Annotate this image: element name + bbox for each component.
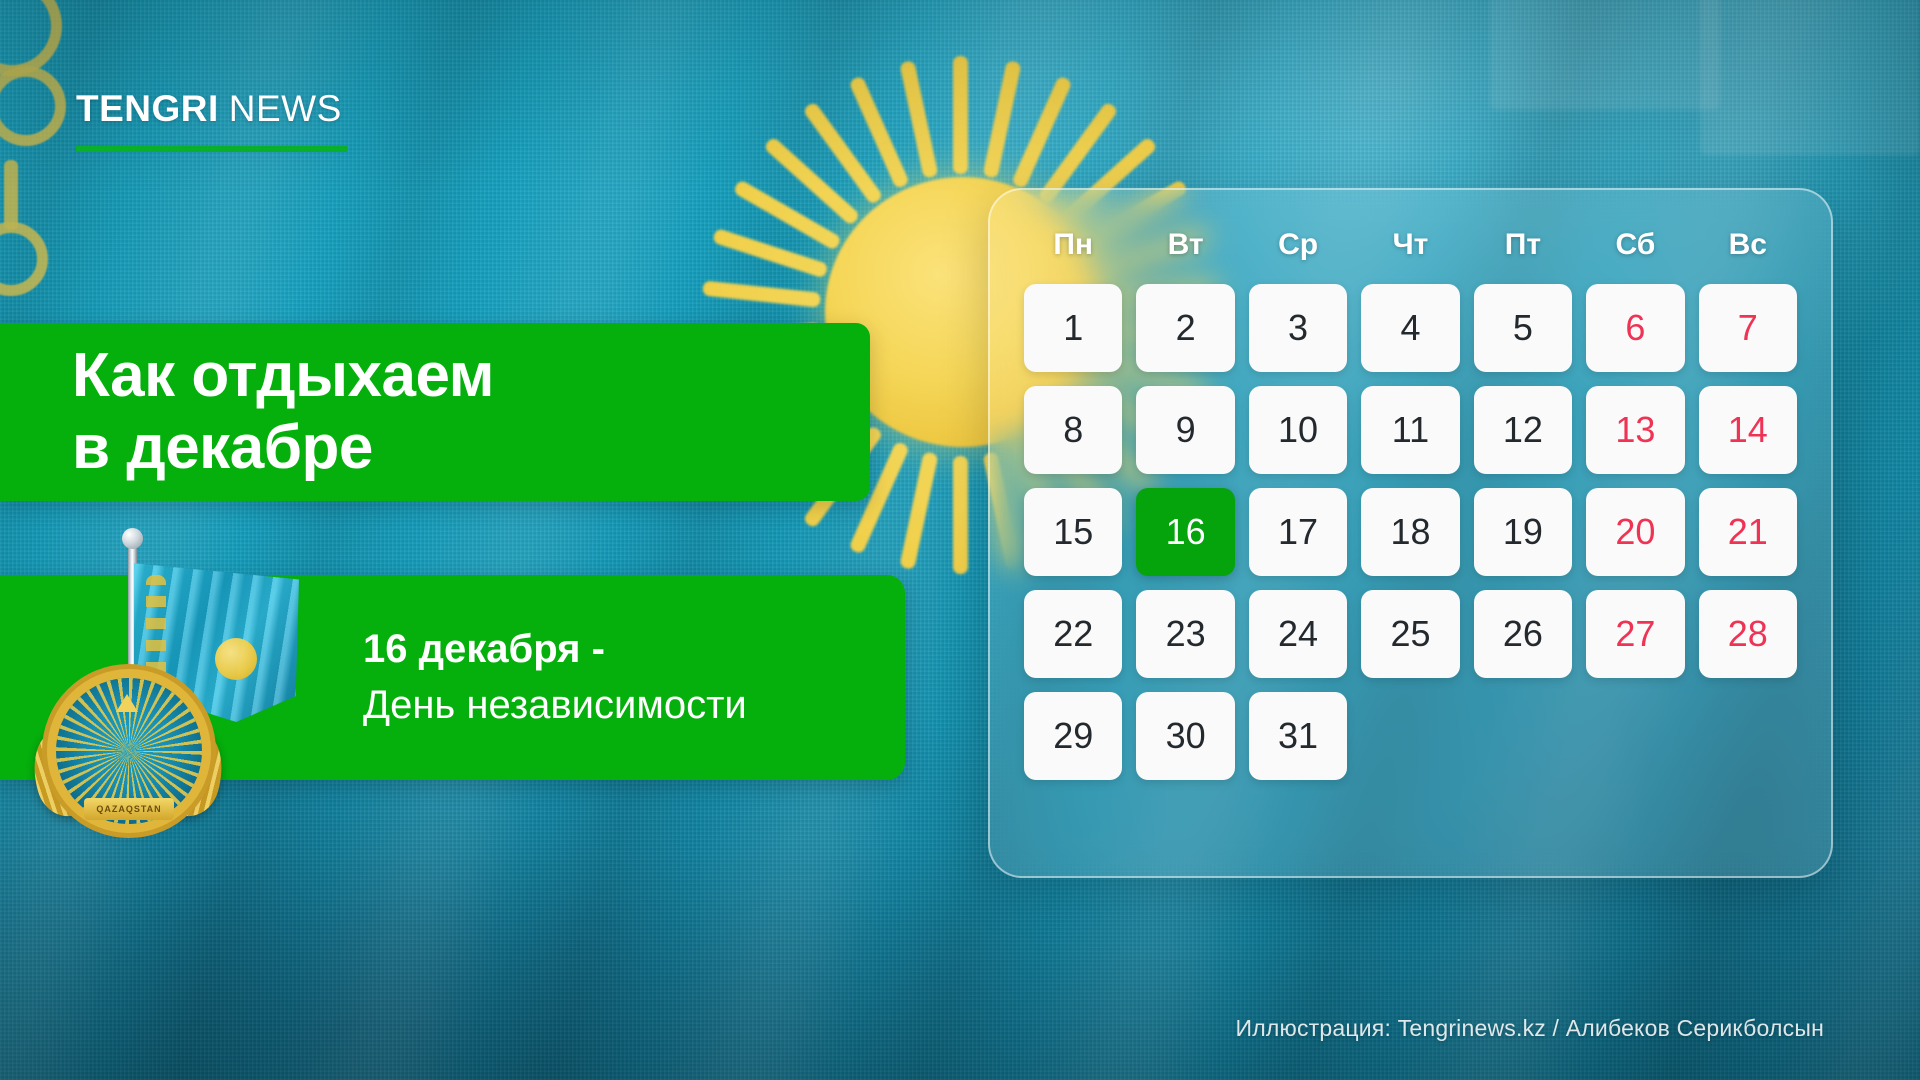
calendar-weekday-6: Вс	[1699, 228, 1797, 262]
calendar-weekday-0: Пн	[1024, 228, 1122, 262]
illustration-credit: Иллюстрация: Tengrinews.kz / Алибеков Се…	[1236, 1015, 1824, 1042]
headline-line-2: в декабре	[72, 412, 494, 484]
calendar-day-16[interactable]: 16	[1136, 488, 1234, 576]
december-calendar-card: ПнВтСрЧтПтСбВс 1234567891011121314151617…	[988, 188, 1833, 878]
flag-ornament-stripe-icon	[146, 575, 166, 695]
calendar-day-17[interactable]: 17	[1249, 488, 1347, 576]
holiday-name-label: День независимости	[363, 678, 747, 733]
calendar-day-8[interactable]: 8	[1024, 386, 1122, 474]
headline-text: Как отдыхаем в декабре	[0, 340, 494, 484]
calendar-day-2[interactable]: 2	[1136, 284, 1234, 372]
calendar-day-3[interactable]: 3	[1249, 284, 1347, 372]
holiday-date-label: 16 декабря -	[363, 622, 747, 677]
headline-line-1: Как отдыхаем	[72, 340, 494, 412]
calendar-day-23[interactable]: 23	[1136, 590, 1234, 678]
emblem-star-icon	[116, 694, 138, 712]
calendar-cell-empty	[1586, 692, 1684, 780]
calendar-weekday-header-row: ПнВтСрЧтПтСбВс	[1024, 228, 1797, 262]
calendar-day-30[interactable]: 30	[1136, 692, 1234, 780]
calendar-day-19[interactable]: 19	[1474, 488, 1572, 576]
calendar-cell-empty	[1361, 692, 1459, 780]
calendar-day-20[interactable]: 20	[1586, 488, 1684, 576]
calendar-day-28[interactable]: 28	[1699, 590, 1797, 678]
flag-sun-icon	[215, 638, 257, 680]
calendar-day-22[interactable]: 22	[1024, 590, 1122, 678]
calendar-day-grid[interactable]: 1234567891011121314151617181920212223242…	[1024, 284, 1797, 780]
calendar-day-13[interactable]: 13	[1586, 386, 1684, 474]
calendar-weekday-5: Сб	[1586, 228, 1684, 262]
calendar-day-27[interactable]: 27	[1586, 590, 1684, 678]
calendar-day-29[interactable]: 29	[1024, 692, 1122, 780]
calendar-weekday-4: Пт	[1474, 228, 1572, 262]
calendar-day-18[interactable]: 18	[1361, 488, 1459, 576]
calendar-day-26[interactable]: 26	[1474, 590, 1572, 678]
calendar-day-11[interactable]: 11	[1361, 386, 1459, 474]
calendar-day-25[interactable]: 25	[1361, 590, 1459, 678]
kazakhstan-coat-of-arms-icon: QAZAQSTAN	[48, 678, 208, 798]
logo-word-tengri: TENGRI	[76, 88, 219, 129]
kazakhstan-flag-and-emblem-graphic: QAZAQSTAN	[30, 520, 330, 795]
calendar-day-21[interactable]: 21	[1699, 488, 1797, 576]
emblem-ribbon-label: QAZAQSTAN	[84, 798, 174, 820]
logo-word-news: NEWS	[229, 88, 342, 129]
calendar-cell-empty	[1474, 692, 1572, 780]
calendar-day-12[interactable]: 12	[1474, 386, 1572, 474]
calendar-day-15[interactable]: 15	[1024, 488, 1122, 576]
flagpole-finial-icon	[122, 528, 143, 549]
poster-canvas: TENGRINEWS Как отдыхаем в декабре 16 дек…	[0, 0, 1920, 1080]
calendar-day-6[interactable]: 6	[1586, 284, 1684, 372]
logo-text: TENGRINEWS	[76, 88, 376, 130]
calendar-day-14[interactable]: 14	[1699, 386, 1797, 474]
calendar-day-10[interactable]: 10	[1249, 386, 1347, 474]
calendar-day-4[interactable]: 4	[1361, 284, 1459, 372]
calendar-cell-empty	[1699, 692, 1797, 780]
calendar-day-1[interactable]: 1	[1024, 284, 1122, 372]
calendar-day-9[interactable]: 9	[1136, 386, 1234, 474]
headline-banner: Как отдыхаем в декабре	[0, 323, 870, 501]
calendar-day-31[interactable]: 31	[1249, 692, 1347, 780]
calendar-weekday-2: Ср	[1249, 228, 1347, 262]
calendar-day-7[interactable]: 7	[1699, 284, 1797, 372]
calendar-weekday-3: Чт	[1361, 228, 1459, 262]
logo-underline-rule	[76, 146, 348, 152]
calendar-day-24[interactable]: 24	[1249, 590, 1347, 678]
calendar-weekday-1: Вт	[1136, 228, 1234, 262]
calendar-day-5[interactable]: 5	[1474, 284, 1572, 372]
tengrinews-logo[interactable]: TENGRINEWS	[76, 88, 376, 152]
